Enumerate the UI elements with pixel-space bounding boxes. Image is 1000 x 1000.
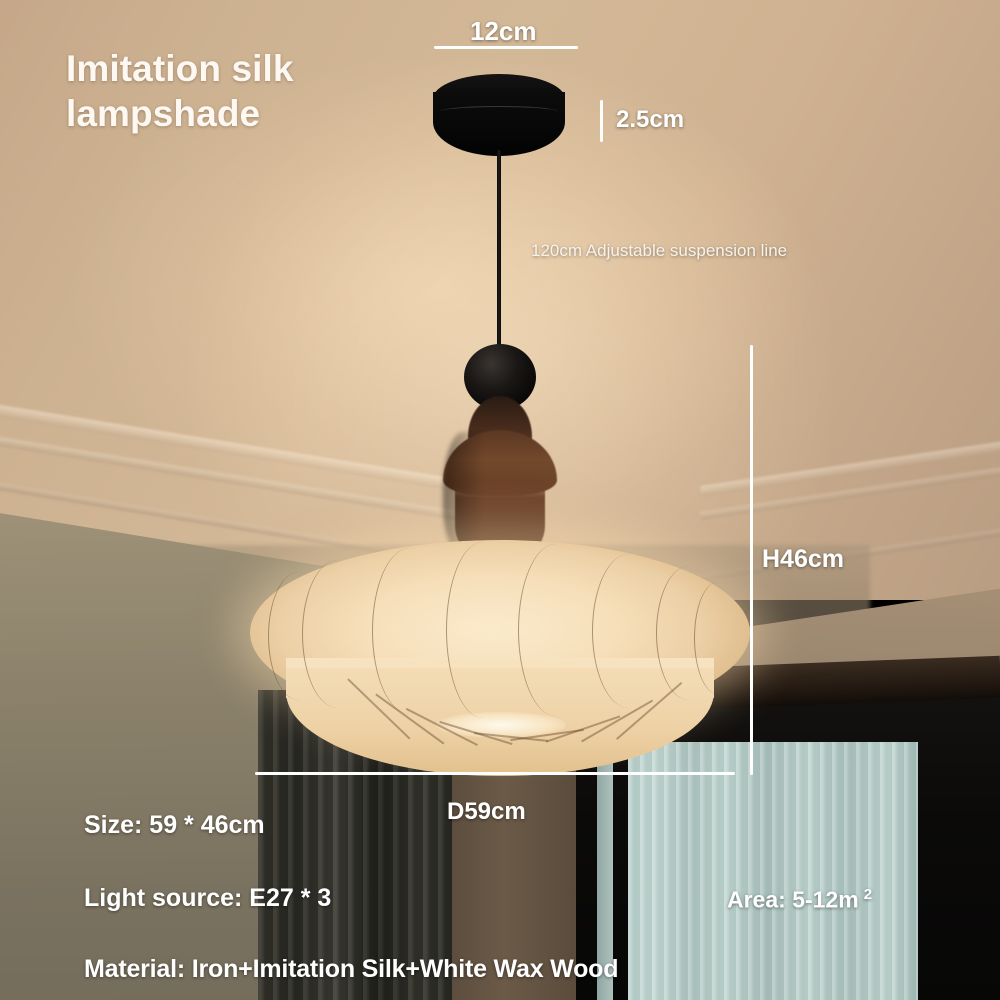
title-line-1: Imitation silk: [66, 46, 396, 91]
dimension-label-canopy-diameter: 12cm: [470, 16, 537, 47]
spec-area-text: Area: 5-12m: [727, 887, 859, 913]
spec-light-source: Light source: E27 * 3: [84, 884, 331, 913]
dimension-tick-canopy-height: [600, 100, 603, 142]
curtain-mint: [628, 742, 918, 1000]
spec-size: Size: 59 * 46cm: [84, 811, 265, 840]
spec-area-unit-superscript: 2: [864, 886, 872, 903]
shade-rib: [372, 548, 447, 714]
spec-material: Material: Iron+Imitation Silk+White Wax …: [84, 955, 618, 984]
shade-rib: [446, 542, 519, 718]
page-title: Imitation silk lampshade: [66, 46, 396, 136]
dimension-label-canopy-height: 2.5cm: [616, 106, 684, 134]
dimension-line-diameter: [255, 772, 735, 775]
shade-rib: [592, 554, 665, 708]
ceiling-canopy-rim: [440, 106, 558, 117]
shade-rib: [518, 544, 593, 716]
spec-area: Area: 5-12m2: [727, 886, 872, 914]
title-line-2: lampshade: [66, 91, 396, 136]
suspension-cord: [497, 150, 501, 355]
lamp-shade: [250, 530, 750, 780]
shade-rib: [694, 582, 741, 694]
dimension-line-height: [750, 345, 753, 775]
dimension-label-height: H46cm: [762, 545, 844, 574]
dimension-label-diameter: D59cm: [447, 798, 526, 826]
product-image: Imitation silk lampshade 12cm 2.5cm 120c…: [0, 0, 1000, 1000]
suspension-line-label: 120cm Adjustable suspension line: [531, 241, 787, 261]
shade-rib: [302, 560, 373, 708]
